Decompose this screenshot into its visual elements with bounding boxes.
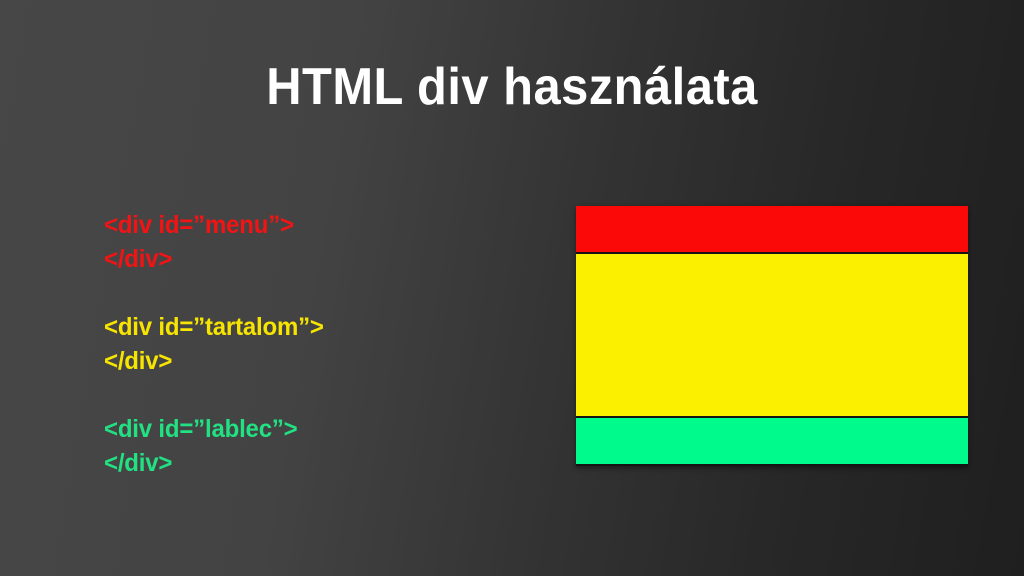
code-close-tag-lablec: </div> xyxy=(104,446,517,480)
code-open-tag-menu: <div id=”menu”> xyxy=(104,208,517,242)
code-block-lablec: <div id=”lablec”> </div> xyxy=(104,412,517,480)
page-title: HTML div használata xyxy=(31,57,994,117)
code-examples-list: <div id=”menu”> </div> <div id=”tartalom… xyxy=(104,208,534,480)
code-open-tag-lablec: <div id=”lablec”> xyxy=(104,412,517,446)
slide-canvas: HTML div használata <div id=”menu”> </di… xyxy=(0,0,1024,576)
code-block-tartalom: <div id=”tartalom”> </div> xyxy=(104,310,517,378)
diagram-region-menu xyxy=(576,206,968,252)
layout-diagram xyxy=(576,206,968,466)
code-close-tag-tartalom: </div> xyxy=(104,344,517,378)
code-close-tag-menu: </div> xyxy=(104,242,517,276)
code-open-tag-tartalom: <div id=”tartalom”> xyxy=(104,310,517,344)
code-block-menu: <div id=”menu”> </div> xyxy=(104,208,517,276)
diagram-region-lablec xyxy=(576,416,968,464)
diagram-region-tartalom xyxy=(576,252,968,416)
